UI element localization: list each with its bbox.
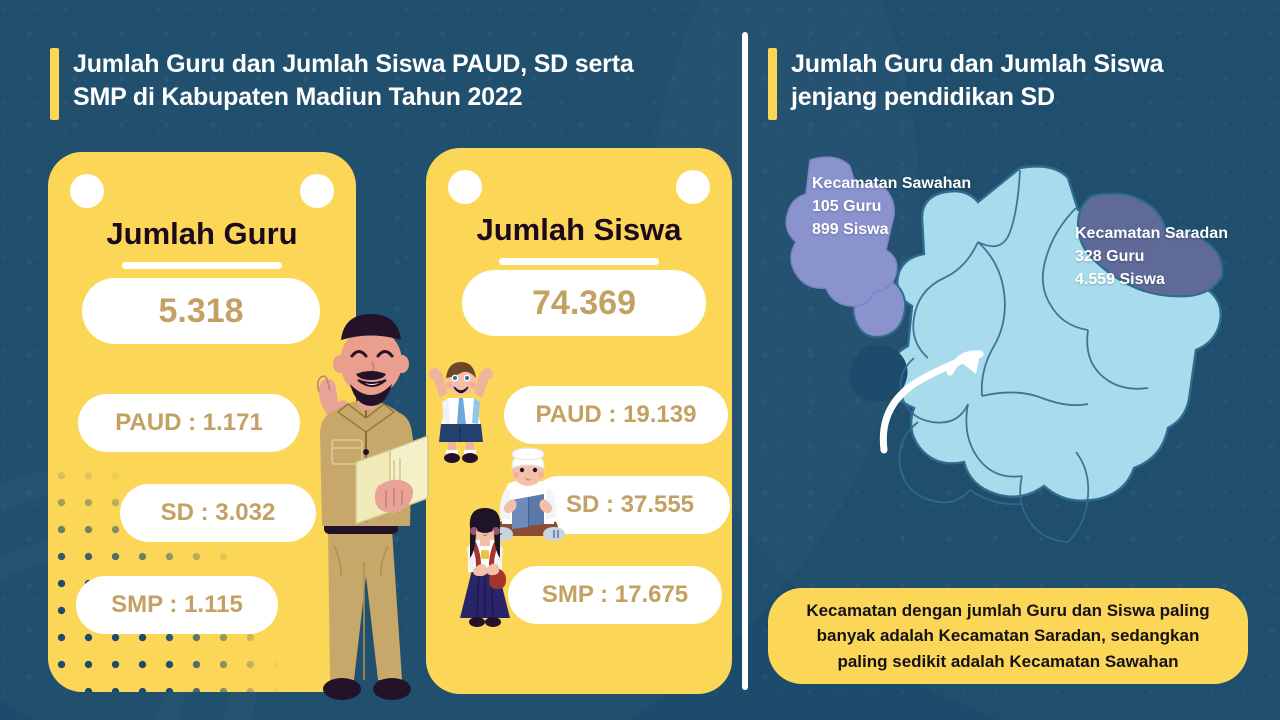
map-label-saradan: Kecamatan Saradan 328 Guru 4.559 Siswa (1075, 222, 1228, 292)
card-heading-siswa: Jumlah Siswa (426, 212, 732, 248)
guru-paud-pill: PAUD : 1.171 (78, 394, 300, 452)
left-panel-title-text: Jumlah Guru dan Jumlah Siswa PAUD, SD se… (73, 48, 634, 115)
punch-hole-left (70, 174, 104, 208)
title-accent-bar (50, 48, 59, 120)
card-heading-guru: Jumlah Guru (48, 216, 356, 252)
right-panel-title: Jumlah Guru dan Jumlah Siswa jenjang pen… (768, 48, 1163, 120)
title-accent-bar (768, 48, 777, 120)
vertical-divider (742, 32, 748, 690)
punch-hole-right (300, 174, 334, 208)
right-panel-title-text: Jumlah Guru dan Jumlah Siswa jenjang pen… (791, 48, 1163, 115)
siswa-smp-pill: SMP : 17.675 (508, 566, 722, 624)
card-heading-underline (122, 262, 282, 269)
punch-hole-left (448, 170, 482, 204)
guru-smp-pill: SMP : 1.115 (76, 576, 278, 634)
punch-hole-right (676, 170, 710, 204)
student-girl-illustration (446, 502, 524, 630)
infographic-canvas: Jumlah Guru dan Jumlah Siswa PAUD, SD se… (0, 0, 1280, 720)
map-caption-box: Kecamatan dengan jumlah Guru dan Siswa p… (768, 588, 1248, 684)
map-label-sawahan: Kecamatan Sawahan 105 Guru 899 Siswa (812, 172, 971, 242)
card-heading-underline (499, 258, 659, 265)
siswa-total-pill: 74.369 (462, 270, 706, 336)
left-panel-title: Jumlah Guru dan Jumlah Siswa PAUD, SD se… (50, 48, 634, 120)
siswa-paud-pill: PAUD : 19.139 (504, 386, 728, 444)
